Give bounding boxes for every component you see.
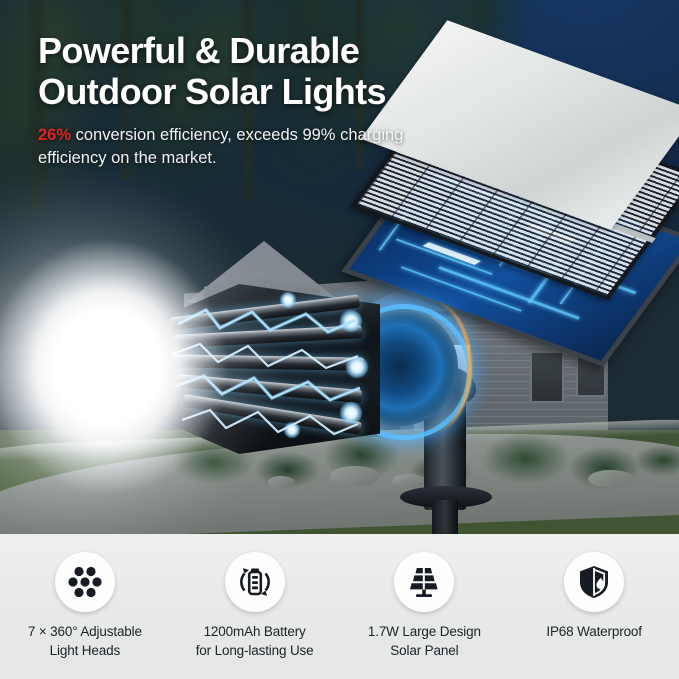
- icon-badge: [394, 552, 454, 612]
- feature-label: 1200mAh Battery for Long-lasting Use: [196, 623, 314, 660]
- ground-stake: [432, 500, 458, 534]
- feature-item-solar-panel: 1.7W Large Design Solar Panel: [340, 534, 510, 679]
- subheadline-rest: conversion efficiency, exceeds 99% charg…: [38, 126, 403, 167]
- feature-item-battery: 1200mAh Battery for Long-lasting Use: [170, 534, 340, 679]
- landscape-rock: [588, 470, 634, 488]
- light-head-amber-rim: [392, 302, 472, 432]
- subheadline: 26% conversion efficiency, exceeds 99% c…: [38, 124, 468, 171]
- led-cluster-icon: [65, 562, 105, 602]
- led-light-head: [40, 262, 500, 492]
- headline-block: Powerful & Durable Outdoor Solar Lights …: [38, 30, 468, 171]
- light-beam: [0, 202, 282, 532]
- feature-bar: 7 × 360° Adjustable Light Heads: [0, 534, 679, 679]
- shield-water-icon: [574, 562, 614, 602]
- efficiency-highlight: 26%: [38, 126, 71, 144]
- feature-label: 1.7W Large Design Solar Panel: [368, 623, 481, 660]
- icon-badge: [564, 552, 624, 612]
- icon-badge: [55, 552, 115, 612]
- hero-scene: Powerful & Durable Outdoor Solar Lights …: [0, 0, 679, 534]
- product-marketing-image: Powerful & Durable Outdoor Solar Lights …: [0, 0, 679, 679]
- feature-label: IP68 Waterproof: [546, 623, 642, 642]
- feature-item-waterproof: IP68 Waterproof: [509, 534, 679, 679]
- feature-label: 7 × 360° Adjustable Light Heads: [28, 623, 142, 660]
- icon-badge: [225, 552, 285, 612]
- solar-panel-icon: [404, 562, 444, 602]
- battery-charge-icon: [235, 562, 275, 602]
- headline-line-2: Outdoor Solar Lights: [38, 71, 468, 112]
- headline-line-1: Powerful & Durable: [38, 30, 468, 71]
- feature-item-light-heads: 7 × 360° Adjustable Light Heads: [0, 534, 170, 679]
